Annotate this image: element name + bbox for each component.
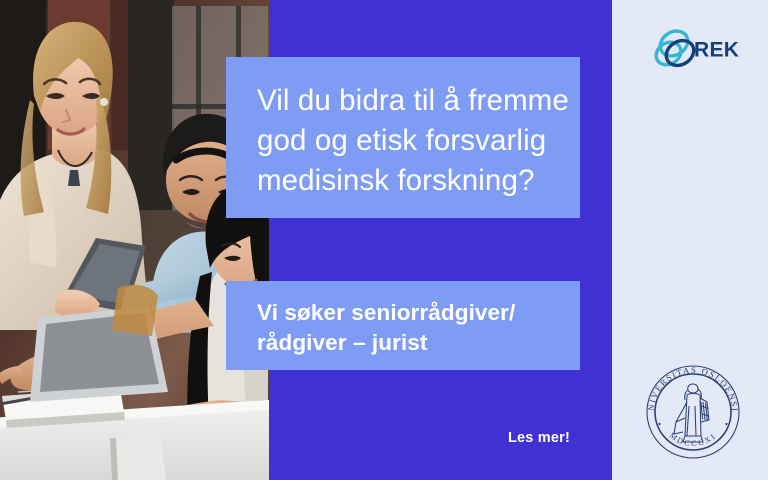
read-more-link[interactable]: Les mer! bbox=[380, 430, 570, 446]
rek-logo: REK bbox=[650, 26, 742, 74]
headline-line-1: Vil du bidra til å fremme bbox=[257, 81, 550, 121]
job-title-line-1: Vi søker seniorrådgiver/ bbox=[257, 298, 558, 328]
seal-top-text: UNIVERSITAS OSLOENSIS bbox=[643, 362, 740, 413]
university-of-oslo-seal: UNIVERSITAS OSLOENSIS MDCCCXI bbox=[643, 362, 743, 462]
job-title-card: Vi søker seniorrådgiver/ rådgiver – juri… bbox=[226, 281, 580, 370]
job-advert-banner: Vil du bidra til å fremme god og etisk f… bbox=[0, 0, 768, 480]
headline-card: Vil du bidra til å fremme god og etisk f… bbox=[226, 57, 580, 218]
svg-text:UNIVERSITAS OSLOENSIS: UNIVERSITAS OSLOENSIS bbox=[643, 362, 740, 413]
job-title-line-2: rådgiver – jurist bbox=[257, 328, 558, 358]
headline-line-2: god og etisk forsvarlig bbox=[257, 121, 550, 161]
headline-line-3: medisinsk forskning? bbox=[257, 161, 550, 201]
svg-text:REK: REK bbox=[694, 39, 739, 62]
